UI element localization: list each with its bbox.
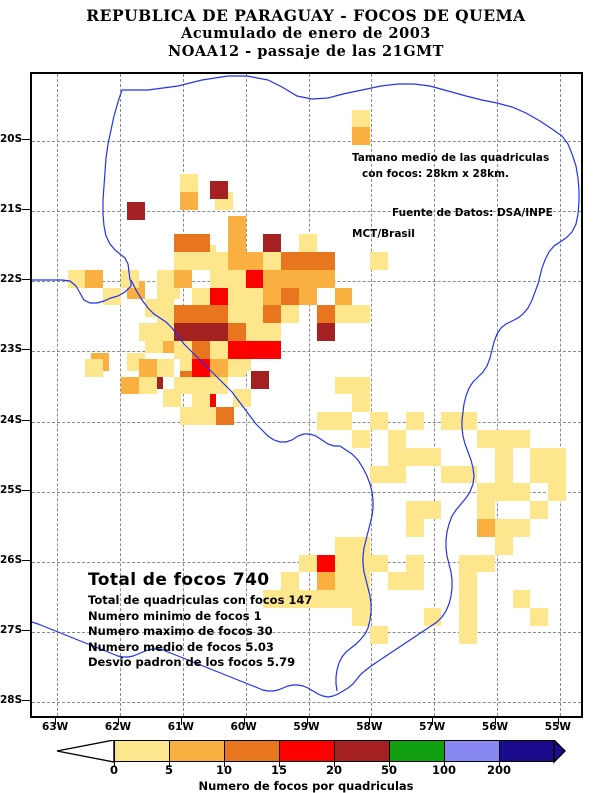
y-axis-tick <box>22 209 30 210</box>
y-axis-tick <box>22 279 30 280</box>
colorbar-tick-label: 100 <box>432 763 456 777</box>
colorbar-band <box>444 740 499 762</box>
title-line-1: REPUBLICA DE PARAGUAY - FOCOS DE QUEMA <box>0 6 612 25</box>
colorbar-bands <box>114 740 554 762</box>
stat-line: Desvio padron de los focos 5.79 <box>88 655 312 671</box>
statistics-block: Total de focos 740Total de quadriculas c… <box>88 570 312 671</box>
colorbar-tick-label: 20 <box>326 763 342 777</box>
x-axis-label: 62W <box>105 721 131 733</box>
chart-title-block: REPUBLICA DE PARAGUAY - FOCOS DE QUEMA A… <box>0 6 612 61</box>
y-axis-label: 28S <box>0 694 22 706</box>
colorbar-band <box>334 740 389 762</box>
colorbar-band <box>169 740 224 762</box>
y-axis-tick <box>22 490 30 491</box>
y-axis-label: 25S <box>0 484 22 496</box>
colorbar-band <box>499 740 554 762</box>
x-axis-label: 56W <box>482 721 508 733</box>
y-axis-label: 22S <box>0 273 22 285</box>
colorbar-caption: Numero de focos por quadriculas <box>0 779 612 793</box>
x-axis-label: 61W <box>168 721 194 733</box>
y-axis-label: 27S <box>0 624 22 636</box>
colorbar-band <box>114 740 169 762</box>
y-axis-label: 26S <box>0 554 22 566</box>
stat-line: Numero minimo de focos 1 <box>88 609 312 625</box>
x-axis-label: 59W <box>293 721 319 733</box>
colorbar-band <box>224 740 279 762</box>
stat-line: Numero maximo de focos 30 <box>88 624 312 640</box>
y-axis-tick <box>22 349 30 350</box>
colorbar-tick-label: 200 <box>487 763 511 777</box>
colorbar-tick-label: 50 <box>381 763 397 777</box>
colorbar-tick-label: 5 <box>165 763 173 777</box>
y-axis-label: 23S <box>0 343 22 355</box>
colorbar-tick-label: 15 <box>271 763 287 777</box>
x-axis-label: 63W <box>42 721 68 733</box>
colorbar-tick-label: 0 <box>110 763 118 777</box>
colorbar: 0510152050100200 Numero de focos por qua… <box>0 735 612 792</box>
x-axis-label: 60W <box>231 721 257 733</box>
colorbar-band <box>389 740 444 762</box>
colorbar-tick-label: 10 <box>216 763 232 777</box>
y-axis-tick <box>22 560 30 561</box>
title-line-2: Acumulado de enero de 2003 <box>0 25 612 43</box>
x-axis-label: 57W <box>419 721 445 733</box>
y-axis-tick <box>22 700 30 701</box>
y-axis-tick <box>22 630 30 631</box>
y-axis-tick <box>22 139 30 140</box>
title-line-3: NOAA12 - passaje de las 21GMT <box>0 43 612 61</box>
y-axis-tick <box>22 420 30 421</box>
stat-line: Total de quadriculas con focos 147 <box>88 593 312 609</box>
anno-quad1: Tamano medio de las quadriculas <box>352 152 549 164</box>
y-axis-label: 20S <box>0 133 22 145</box>
stat-total-focos: Total de focos 740 <box>88 570 312 590</box>
y-axis-label: 24S <box>0 414 22 426</box>
y-axis-label: 21S <box>0 203 22 215</box>
anno-src2: MCT/Brasil <box>352 228 415 240</box>
anno-quad2: con focos: 28km x 28km. <box>362 168 509 180</box>
x-axis-label: 55W <box>545 721 571 733</box>
stat-line: Numero medio de focos 5.03 <box>88 640 312 656</box>
colorbar-band <box>279 740 334 762</box>
x-axis-label: 58W <box>356 721 382 733</box>
anno-src1: Fuente de Datos: DSA/INPE <box>392 207 553 219</box>
